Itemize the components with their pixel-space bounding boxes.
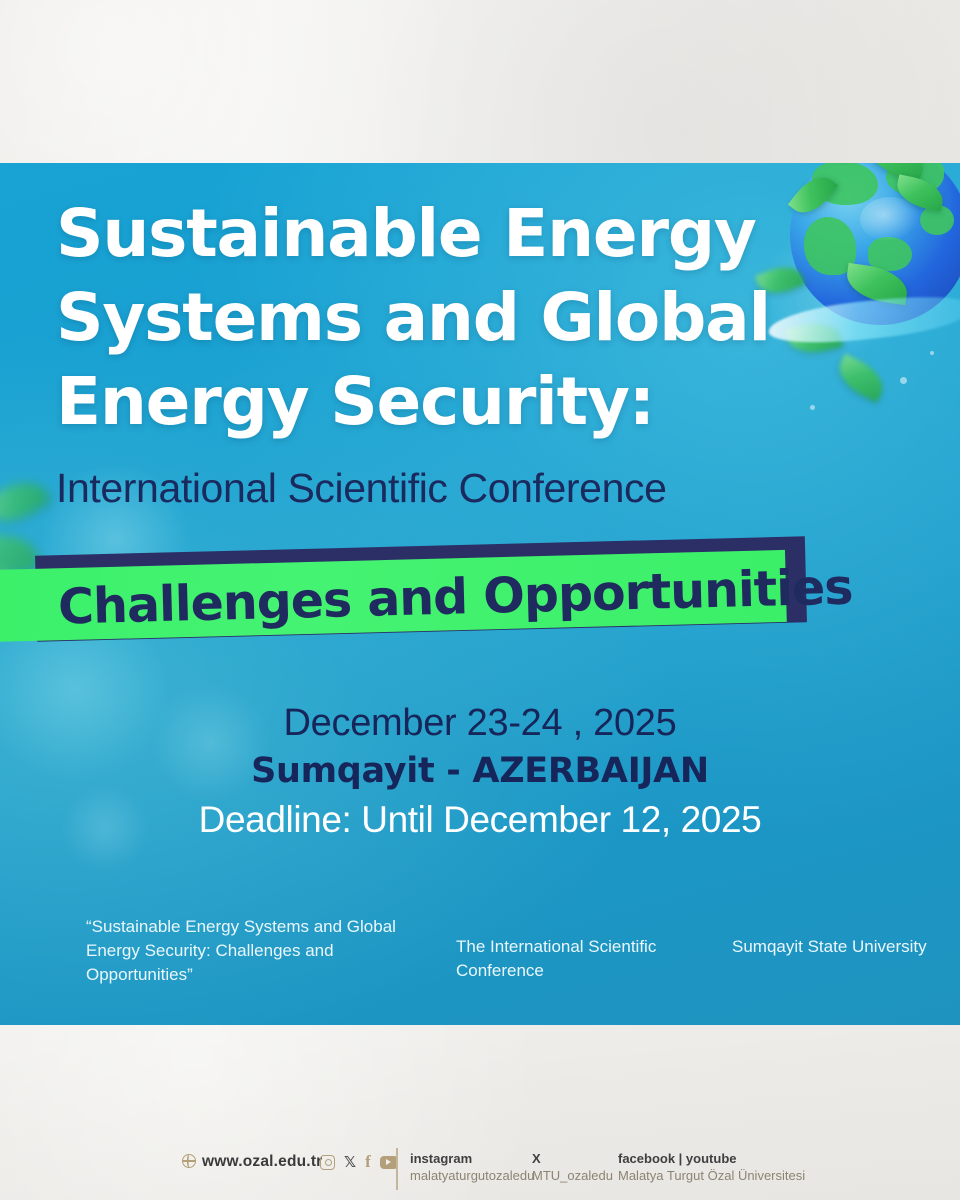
- event-deadline: Deadline: Until December 12, 2025: [0, 796, 960, 844]
- handle-value[interactable]: MTU_ozaledu: [532, 1167, 613, 1184]
- facebook-icon[interactable]: f: [365, 1152, 371, 1172]
- info-columns: “Sustainable Energy Systems and Global E…: [0, 915, 960, 1005]
- event-date: December 23-24 , 2025: [0, 700, 960, 746]
- instagram-icon[interactable]: [320, 1155, 335, 1170]
- handle-value[interactable]: malatyaturgutozaledu: [410, 1167, 534, 1184]
- handle-platform: X: [532, 1150, 613, 1167]
- website-link[interactable]: www.ozal.edu.tr: [182, 1153, 322, 1171]
- logo-header-bar: [0, 0, 960, 163]
- globe-icon: [182, 1154, 196, 1168]
- handle-value[interactable]: Malatya Turgut Özal Üniversitesi: [618, 1167, 805, 1184]
- title-line-3: Energy Security:: [56, 360, 756, 444]
- title-line-2: Systems and Global: [56, 276, 756, 360]
- social-icon-group: 𝕏 f: [320, 1152, 398, 1172]
- website-url: www.ozal.edu.tr: [202, 1153, 322, 1170]
- challenges-banner: Challenges and Opportunities: [0, 540, 830, 650]
- handle-instagram: instagram malatyaturgutozaledu: [410, 1150, 534, 1184]
- handle-platform: facebook | youtube: [618, 1150, 805, 1167]
- column-host: Sumqayit State University: [732, 935, 942, 959]
- column-event: The International Scientific Conference: [456, 935, 686, 983]
- column-theme: “Sustainable Energy Systems and Global E…: [86, 915, 426, 987]
- poster-subtitle: International Scientific Conference: [56, 464, 756, 512]
- conference-poster: MALATYA TURGUT ÖZAL ÜNİVERSİTESİ SUMQAYI…: [0, 0, 960, 1200]
- title-line-1: Sustainable Energy: [56, 192, 756, 276]
- poster-title-block: Sustainable Energy Systems and Global En…: [56, 192, 756, 512]
- x-icon[interactable]: 𝕏: [344, 1153, 356, 1171]
- event-date-block: December 23-24 , 2025 Sumqayit - AZERBAI…: [0, 700, 960, 844]
- handle-platform: instagram: [410, 1150, 534, 1167]
- footer-social-row: www.ozal.edu.tr 𝕏 f instagram malatyatur…: [0, 1148, 960, 1194]
- handle-x: X MTU_ozaledu: [532, 1150, 613, 1184]
- footer-divider: [396, 1148, 398, 1190]
- event-location: Sumqayit - AZERBAIJAN: [0, 746, 960, 796]
- handle-facebook-youtube: facebook | youtube Malatya Turgut Özal Ü…: [618, 1150, 805, 1184]
